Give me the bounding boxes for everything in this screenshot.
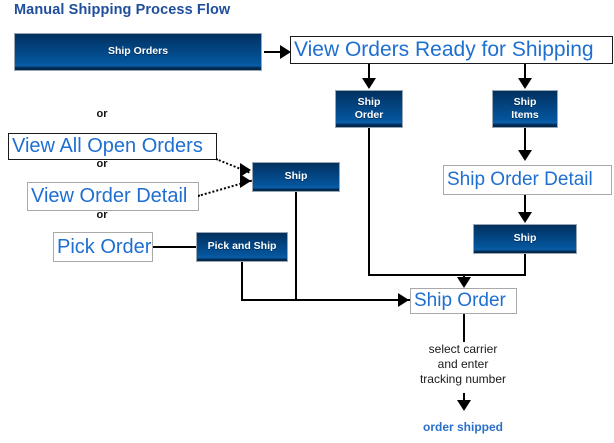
arrowhead-to-ship-order-icon: [362, 78, 376, 89]
ship-order-detail-label: Ship Order Detail: [444, 169, 596, 191]
arrowhead-to-ship-middle-b-icon: [240, 174, 251, 188]
flowchart-canvas: Manual Shipping Process Flow Ship Orders…: [0, 0, 614, 443]
arrowhead-to-ship-order-final-left-icon: [398, 293, 409, 307]
pick-order-label: Pick Order: [54, 236, 153, 259]
connector-final-to-note: [463, 314, 465, 342]
ship-order-final-link[interactable]: Ship Order: [410, 288, 517, 314]
view-order-detail-label: View Order Detail: [28, 185, 190, 208]
ship-order-button-label-line2: Order: [355, 109, 384, 122]
ship-button-right[interactable]: Ship: [473, 224, 577, 254]
carrier-note-line1: select carrier: [393, 342, 533, 357]
ship-order-button[interactable]: Ship Order: [335, 90, 403, 128]
ship-button-middle-label: Ship: [285, 170, 308, 183]
arrowhead-to-ship-order-final-top-icon: [457, 277, 471, 288]
view-orders-ready-for-shipping-label: View Orders Ready for Shipping: [291, 38, 597, 62]
pick-order-link[interactable]: Pick Order: [53, 232, 153, 262]
connector-merge-horizontal: [368, 274, 526, 276]
view-order-detail-link[interactable]: View Order Detail: [27, 182, 199, 211]
or-label-3: or: [72, 209, 132, 221]
ship-orders-button[interactable]: Ship Orders: [14, 33, 262, 71]
ship-items-button-label-line2: Items: [511, 109, 538, 122]
connector-pick-and-ship-right: [241, 299, 411, 301]
order-shipped-terminal: order shipped: [393, 420, 533, 434]
ship-order-detail-link[interactable]: Ship Order Detail: [443, 165, 612, 195]
connector-ship-middle-down: [295, 192, 297, 301]
connector-ship-right-down: [524, 254, 526, 276]
ship-button-middle[interactable]: Ship: [252, 162, 340, 192]
carrier-note: select carrier and enter tracking number: [393, 342, 533, 387]
ship-order-final-label: Ship Order: [411, 290, 509, 312]
connector-pick-and-ship-down: [241, 262, 243, 301]
pick-and-ship-button[interactable]: Pick and Ship: [196, 232, 288, 262]
carrier-note-line3: tracking number: [393, 372, 533, 387]
connector-pick-order-to-pick-and-ship: [153, 246, 196, 248]
ship-button-right-label: Ship: [514, 232, 537, 245]
arrowhead-to-ship-right-icon: [518, 212, 532, 223]
ship-items-button[interactable]: Ship Items: [492, 90, 558, 128]
ship-items-button-label-line1: Ship: [514, 96, 537, 109]
ship-order-button-label-line1: Ship: [358, 96, 381, 109]
view-all-open-orders-link[interactable]: View All Open Orders: [8, 133, 217, 160]
pick-and-ship-button-label: Pick and Ship: [208, 240, 277, 253]
connector-ship-items-to-detail: [524, 128, 526, 152]
arrowhead-to-order-shipped-icon: [457, 400, 471, 411]
ship-orders-button-label: Ship Orders: [108, 45, 168, 58]
view-orders-ready-for-shipping-link[interactable]: View Orders Ready for Shipping: [290, 36, 613, 64]
or-label-1: or: [72, 108, 132, 120]
connector-ship-order-down: [368, 128, 370, 276]
page-title: Manual Shipping Process Flow: [14, 2, 230, 18]
arrowhead-to-ship-items-icon: [518, 78, 532, 89]
carrier-note-line2: and enter: [393, 357, 533, 372]
view-all-open-orders-label: View All Open Orders: [9, 135, 206, 158]
arrowhead-to-ship-order-detail-icon: [518, 150, 532, 161]
or-label-2: or: [72, 158, 132, 170]
